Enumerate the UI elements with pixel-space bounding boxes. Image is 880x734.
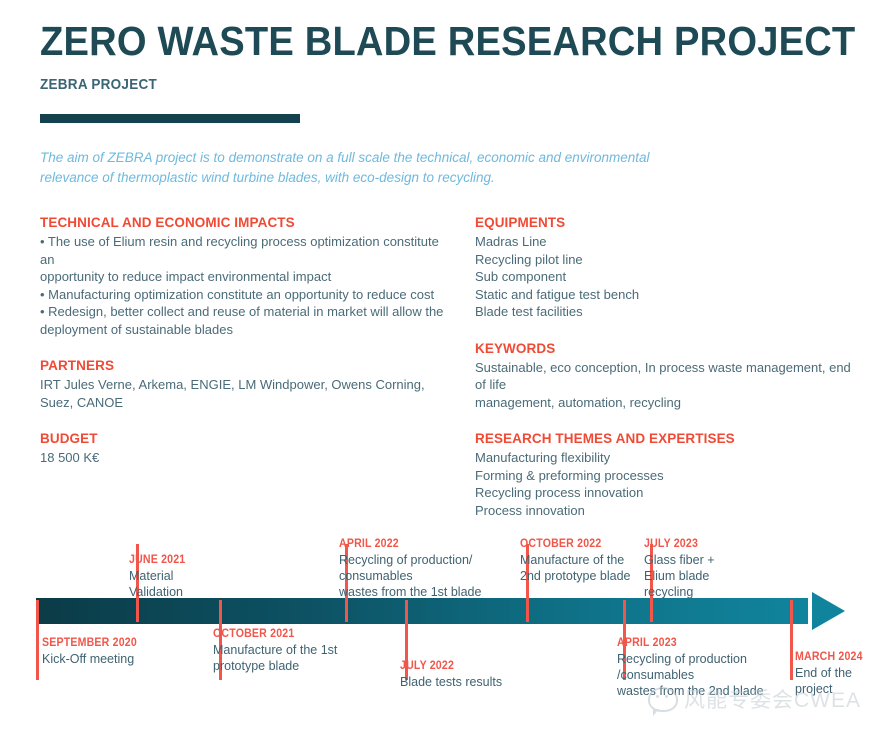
timeline-event-line: wastes from the 2nd blade bbox=[617, 683, 797, 699]
block-body: • The use of Elium resin and recycling p… bbox=[40, 233, 450, 338]
block-heading: RESEARCH THEMES AND EXPERTISES bbox=[475, 430, 855, 447]
timeline-event-line: /consumables bbox=[617, 667, 797, 683]
block-line: Blade test facilities bbox=[475, 303, 855, 321]
left-column: TECHNICAL AND ECONOMIC IMPACTS• The use … bbox=[40, 214, 450, 467]
block-line: Recycling process innovation bbox=[475, 484, 855, 502]
block-line: Sub component bbox=[475, 268, 855, 286]
project-aim-text: The aim of ZEBRA project is to demonstra… bbox=[40, 148, 690, 188]
header-rule bbox=[40, 114, 300, 123]
timeline-event-date: SEPTEMBER 2020 bbox=[42, 636, 208, 650]
timeline-event-line: consumables bbox=[339, 568, 519, 584]
block-line: opportunity to reduce impact environment… bbox=[40, 268, 450, 286]
content-block: KEYWORDSSustainable, eco conception, In … bbox=[475, 340, 855, 412]
content-block: TECHNICAL AND ECONOMIC IMPACTS• The use … bbox=[40, 214, 450, 338]
block-line: • The use of Elium resin and recycling p… bbox=[40, 233, 450, 268]
timeline-event-description: Recycling of production/consumableswaste… bbox=[339, 552, 519, 600]
block-line: Forming & preforming processes bbox=[475, 467, 855, 485]
timeline-event-line: Kick-Off meeting bbox=[42, 651, 222, 667]
block-line: • Redesign, better collect and reuse of … bbox=[40, 303, 450, 321]
block-line: Recycling pilot line bbox=[475, 251, 855, 269]
timeline-event-description: Glass fiber +Elium bladerecycling bbox=[644, 552, 824, 600]
block-heading: BUDGET bbox=[40, 430, 450, 447]
timeline-event-line: Manufacture of the 1st bbox=[213, 642, 393, 658]
timeline-tick bbox=[790, 600, 793, 680]
block-line: • Manufacturing optimization constitute … bbox=[40, 286, 450, 304]
timeline-event-date: JUNE 2021 bbox=[129, 553, 295, 567]
block-line: Sustainable, eco conception, In process … bbox=[475, 359, 855, 394]
timeline-event: APRIL 2023Recycling of production/consum… bbox=[617, 636, 797, 699]
block-heading: PARTNERS bbox=[40, 357, 450, 374]
block-body: IRT Jules Verne, Arkema, ENGIE, LM Windp… bbox=[40, 376, 450, 411]
block-line: management, automation, recycling bbox=[475, 394, 855, 412]
project-timeline: SEPTEMBER 2020Kick-Off meetingJUNE 2021M… bbox=[0, 500, 880, 734]
timeline-event-line: wastes from the 1st blade bbox=[339, 584, 519, 600]
timeline-event-line: Material bbox=[129, 568, 309, 584]
timeline-event-line: Glass fiber + bbox=[644, 552, 824, 568]
timeline-event-description: Blade tests results bbox=[400, 674, 580, 690]
timeline-event-date: APRIL 2022 bbox=[339, 537, 505, 551]
timeline-event-line: Validation bbox=[129, 584, 309, 600]
timeline-event-description: Manufacture of the 1stprototype blade bbox=[213, 642, 393, 674]
content-block: BUDGET18 500 K€ bbox=[40, 430, 450, 467]
block-line: 18 500 K€ bbox=[40, 449, 450, 467]
timeline-event-line: project bbox=[795, 681, 880, 697]
timeline-event: JULY 2022Blade tests results bbox=[400, 659, 580, 690]
timeline-event-line: recycling bbox=[644, 584, 824, 600]
timeline-tick bbox=[36, 600, 39, 680]
timeline-event-line: Elium blade bbox=[644, 568, 824, 584]
block-line: Manufacturing flexibility bbox=[475, 449, 855, 467]
timeline-event-description: End of theproject bbox=[795, 665, 880, 697]
timeline-event: OCTOBER 2021Manufacture of the 1stprotot… bbox=[213, 627, 393, 674]
timeline-event: APRIL 2022Recycling of production/consum… bbox=[339, 537, 519, 600]
block-body: Sustainable, eco conception, In process … bbox=[475, 359, 855, 412]
timeline-event-date: JULY 2022 bbox=[400, 659, 566, 673]
block-line: Static and fatigue test bench bbox=[475, 286, 855, 304]
timeline-bar bbox=[36, 598, 808, 624]
block-body: 18 500 K€ bbox=[40, 449, 450, 467]
block-line: IRT Jules Verne, Arkema, ENGIE, LM Windp… bbox=[40, 376, 450, 411]
timeline-event-date: MARCH 2024 bbox=[795, 650, 880, 664]
timeline-event: JULY 2023Glass fiber +Elium bladerecycli… bbox=[644, 537, 824, 600]
timeline-event: JUNE 2021MaterialValidation bbox=[129, 553, 309, 600]
timeline-event-line: Recycling of production/ bbox=[339, 552, 519, 568]
timeline-event-line: Recycling of production bbox=[617, 651, 797, 667]
timeline-event-description: MaterialValidation bbox=[129, 568, 309, 600]
timeline-event-line: Blade tests results bbox=[400, 674, 580, 690]
timeline-event-description: Kick-Off meeting bbox=[42, 651, 222, 667]
timeline-event-date: APRIL 2023 bbox=[617, 636, 783, 650]
page-subtitle: ZEBRA PROJECT bbox=[40, 76, 760, 94]
block-body: Madras LineRecycling pilot lineSub compo… bbox=[475, 233, 855, 321]
timeline-event-date: JULY 2023 bbox=[644, 537, 810, 551]
content-block: PARTNERSIRT Jules Verne, Arkema, ENGIE, … bbox=[40, 357, 450, 411]
block-line: Madras Line bbox=[475, 233, 855, 251]
timeline-event: MARCH 2024End of theproject bbox=[795, 650, 880, 697]
block-heading: KEYWORDS bbox=[475, 340, 855, 357]
block-heading: EQUIPMENTS bbox=[475, 214, 855, 231]
content-block: EQUIPMENTSMadras LineRecycling pilot lin… bbox=[475, 214, 855, 321]
timeline-event-line: prototype blade bbox=[213, 658, 393, 674]
page-title: ZERO WASTE BLADE RESEARCH PROJECT bbox=[40, 18, 784, 64]
timeline-event-date: OCTOBER 2021 bbox=[213, 627, 379, 641]
timeline-event-description: Recycling of production/consumableswaste… bbox=[617, 651, 797, 699]
timeline-event-line: End of the bbox=[795, 665, 880, 681]
right-column: EQUIPMENTSMadras LineRecycling pilot lin… bbox=[475, 214, 855, 519]
block-heading: TECHNICAL AND ECONOMIC IMPACTS bbox=[40, 214, 450, 231]
timeline-event: SEPTEMBER 2020Kick-Off meeting bbox=[42, 636, 222, 667]
block-line: deployment of sustainable blades bbox=[40, 321, 450, 339]
page-header: ZERO WASTE BLADE RESEARCH PROJECT ZEBRA … bbox=[40, 18, 840, 123]
